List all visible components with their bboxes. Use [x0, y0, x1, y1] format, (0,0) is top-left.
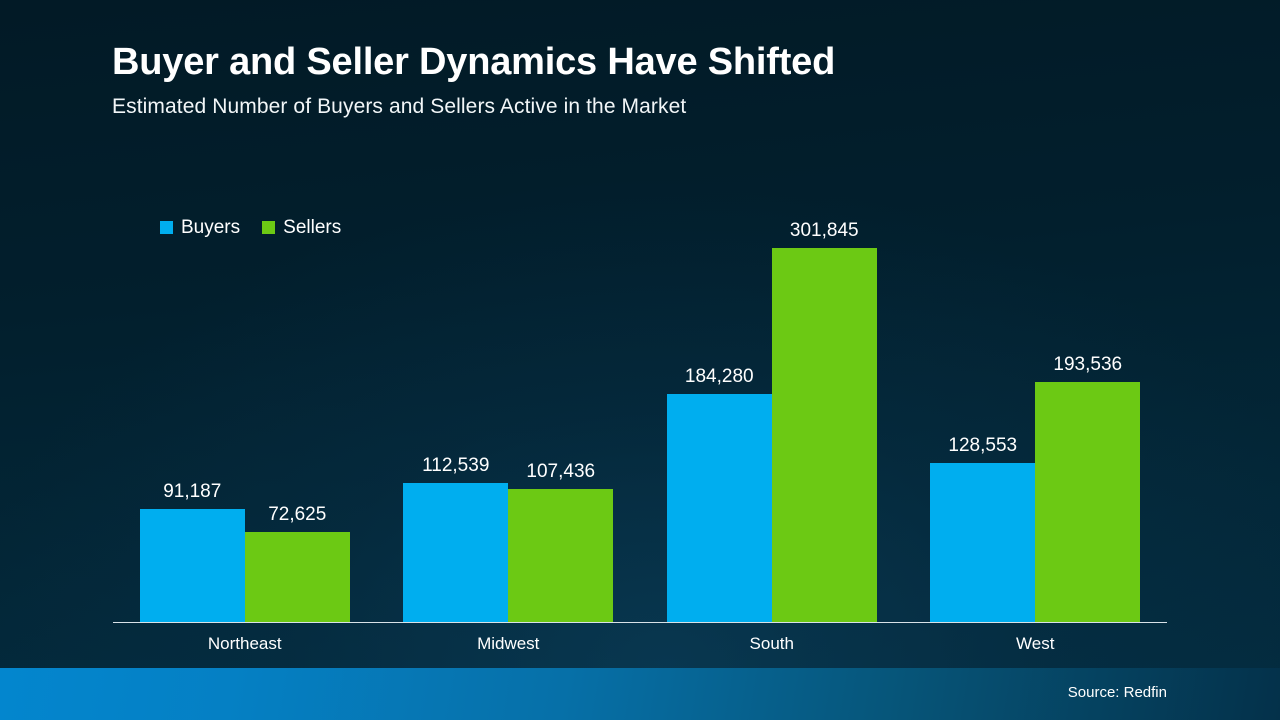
bar-rect	[667, 394, 772, 622]
page-title: Buyer and Seller Dynamics Have Shifted	[112, 42, 1182, 83]
bar-value-label: 72,625	[268, 505, 326, 524]
category-label-west: West	[904, 632, 1168, 656]
bar-value-label: 112,539	[422, 456, 489, 475]
bar-value-label: 193,536	[1053, 355, 1122, 374]
bar-rect	[508, 489, 613, 622]
bar-northeast-buyers[interactable]: 91,187	[140, 205, 245, 622]
bar-group-west: 128,553193,536	[904, 205, 1168, 622]
x-axis-line	[113, 622, 1167, 623]
category-label-south: South	[640, 632, 904, 656]
bar-midwest-sellers[interactable]: 107,436	[508, 205, 613, 622]
bar-pair: 91,18772,625	[113, 205, 377, 622]
bar-value-label: 301,845	[790, 221, 859, 240]
bar-west-sellers[interactable]: 193,536	[1035, 205, 1140, 622]
bar-value-label: 128,553	[948, 436, 1017, 455]
bar-rect	[1035, 382, 1140, 622]
footer-bar: Source: Redfin	[0, 668, 1280, 720]
bar-pair: 184,280301,845	[640, 205, 904, 622]
bar-value-label: 184,280	[685, 367, 754, 386]
bar-pair: 128,553193,536	[904, 205, 1168, 622]
slide-canvas: Buyer and Seller Dynamics Have Shifted E…	[0, 0, 1280, 720]
page-subtitle: Estimated Number of Buyers and Sellers A…	[112, 95, 1182, 119]
bar-rect	[930, 463, 1035, 622]
bar-south-buyers[interactable]: 184,280	[667, 205, 772, 622]
header: Buyer and Seller Dynamics Have Shifted E…	[112, 42, 1182, 119]
bar-northeast-sellers[interactable]: 72,625	[245, 205, 350, 622]
bar-value-label: 107,436	[526, 462, 595, 481]
bar-south-sellers[interactable]: 301,845	[772, 205, 877, 622]
category-label-midwest: Midwest	[377, 632, 641, 656]
bar-rect	[403, 483, 508, 622]
bar-group-south: 184,280301,845	[640, 205, 904, 622]
bar-rect	[772, 248, 877, 622]
bar-rect	[140, 509, 245, 622]
source-label: Source: Redfin	[1068, 685, 1167, 700]
chart-plot-area: 91,18772,625112,539107,436184,280301,845…	[113, 205, 1167, 622]
bar-pair: 112,539107,436	[377, 205, 641, 622]
x-axis-category-labels: NortheastMidwestSouthWest	[113, 632, 1167, 662]
bar-rect	[245, 532, 350, 622]
bar-midwest-buyers[interactable]: 112,539	[403, 205, 508, 622]
bar-group-northeast: 91,18772,625	[113, 205, 377, 622]
bar-value-label: 91,187	[163, 482, 221, 501]
category-label-northeast: Northeast	[113, 632, 377, 656]
bar-group-midwest: 112,539107,436	[377, 205, 641, 622]
bar-west-buyers[interactable]: 128,553	[930, 205, 1035, 622]
